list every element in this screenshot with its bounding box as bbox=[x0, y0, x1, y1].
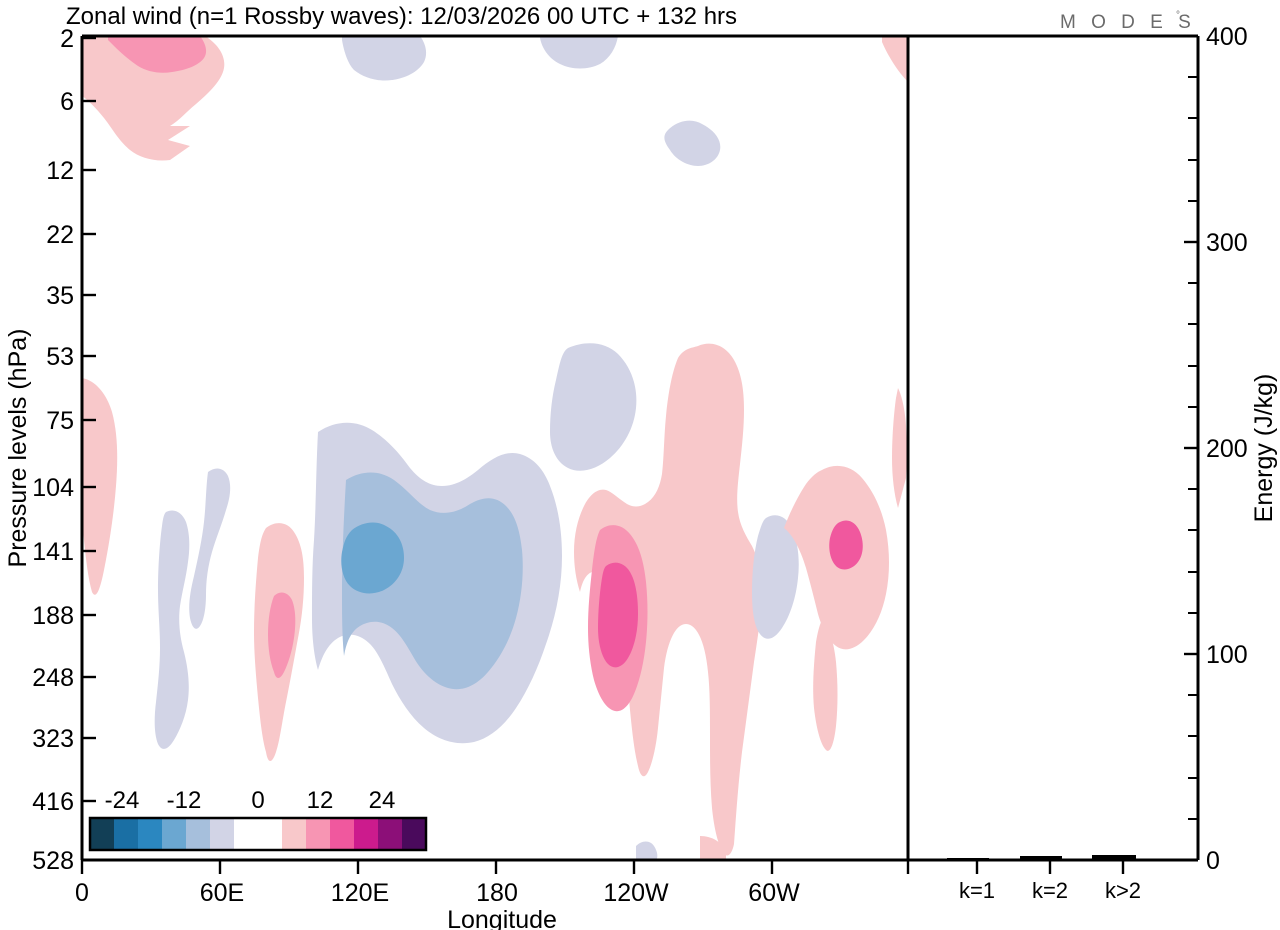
x-tick-label: 120E bbox=[331, 879, 389, 907]
colorbar-swatch bbox=[330, 818, 354, 850]
y-tick-label: 12 bbox=[46, 157, 74, 185]
colorbar-swatch bbox=[186, 818, 210, 850]
colorbar-swatch bbox=[282, 818, 306, 850]
y-tick-label: 104 bbox=[32, 474, 74, 502]
colorbar-swatch-zero bbox=[234, 818, 282, 850]
y-tick-label: 2 bbox=[60, 25, 74, 53]
y-tick-label: 6 bbox=[60, 88, 74, 116]
y-tick-label: 141 bbox=[32, 538, 74, 566]
colorbar-tick-label: 24 bbox=[369, 787, 396, 814]
zonal-wind-chart: Zonal wind (n=1 Rossby waves): 12/03/202… bbox=[0, 0, 1280, 930]
x-tick-label: 120W bbox=[603, 879, 669, 907]
energy-category-label: k=1 bbox=[959, 878, 995, 903]
colorbar-tick-label: 12 bbox=[307, 787, 334, 814]
x-tick-label: 60E bbox=[200, 879, 244, 907]
page-title: Zonal wind (n=1 Rossby waves): 12/03/202… bbox=[66, 3, 737, 30]
colorbar-swatch bbox=[114, 818, 138, 850]
y2-tick-label: 0 bbox=[1206, 847, 1220, 875]
energy-bar-panel: k=1 k=2 k>2 bbox=[947, 855, 1141, 903]
y-tick-label: 248 bbox=[32, 664, 74, 692]
energy-category-label: k=2 bbox=[1032, 878, 1068, 903]
y-tick-label: 188 bbox=[32, 602, 74, 630]
x-axis-longitude: 0 60E 120E 180 120W 60W bbox=[75, 860, 908, 907]
y-tick-label: 53 bbox=[46, 343, 74, 371]
colorbar-swatch bbox=[210, 818, 234, 850]
x-tick-label: 180 bbox=[476, 879, 518, 907]
y-axis-title: Pressure levels (hPa) bbox=[4, 329, 32, 568]
energy-bar-k1 bbox=[947, 858, 989, 860]
y2-tick-label: 100 bbox=[1206, 641, 1248, 669]
colorbar-swatch bbox=[402, 818, 426, 850]
energy-category-label: k>2 bbox=[1105, 878, 1141, 903]
y-tick-label: 75 bbox=[46, 407, 74, 435]
colorbar-swatch bbox=[138, 818, 162, 850]
colorbar-tick-label: 0 bbox=[251, 787, 264, 814]
y-tick-label: 416 bbox=[32, 788, 74, 816]
colorbar-tick-label: -24 bbox=[105, 787, 140, 814]
x-tick-label: 0 bbox=[75, 879, 89, 907]
y-tick-label: 528 bbox=[32, 847, 74, 875]
y2-tick-label: 400 bbox=[1206, 23, 1248, 51]
energy-bar-k2 bbox=[1020, 856, 1062, 860]
y-tick-label: 22 bbox=[46, 221, 74, 249]
colorbar-swatch bbox=[378, 818, 402, 850]
y-tick-label: 35 bbox=[46, 282, 74, 310]
colorbar-tick-label: -12 bbox=[167, 787, 202, 814]
y2-tick-label: 200 bbox=[1206, 435, 1248, 463]
colorbar-swatch bbox=[354, 818, 378, 850]
modes-logo-degree: ° bbox=[1176, 10, 1180, 21]
y-tick-label: 323 bbox=[32, 725, 74, 753]
energy-bar-kgt2 bbox=[1092, 855, 1136, 860]
x-axis-title: Longitude bbox=[447, 906, 557, 930]
contour-pos-mid-40w bbox=[829, 520, 863, 569]
colorbar-swatch bbox=[162, 818, 186, 850]
colorbar-swatch bbox=[306, 818, 330, 850]
y2-axis-title: Energy (J/kg) bbox=[1250, 374, 1278, 523]
colorbar-swatch bbox=[90, 818, 114, 850]
x-tick-label: 60W bbox=[748, 879, 800, 907]
y2-tick-label: 300 bbox=[1206, 229, 1248, 257]
